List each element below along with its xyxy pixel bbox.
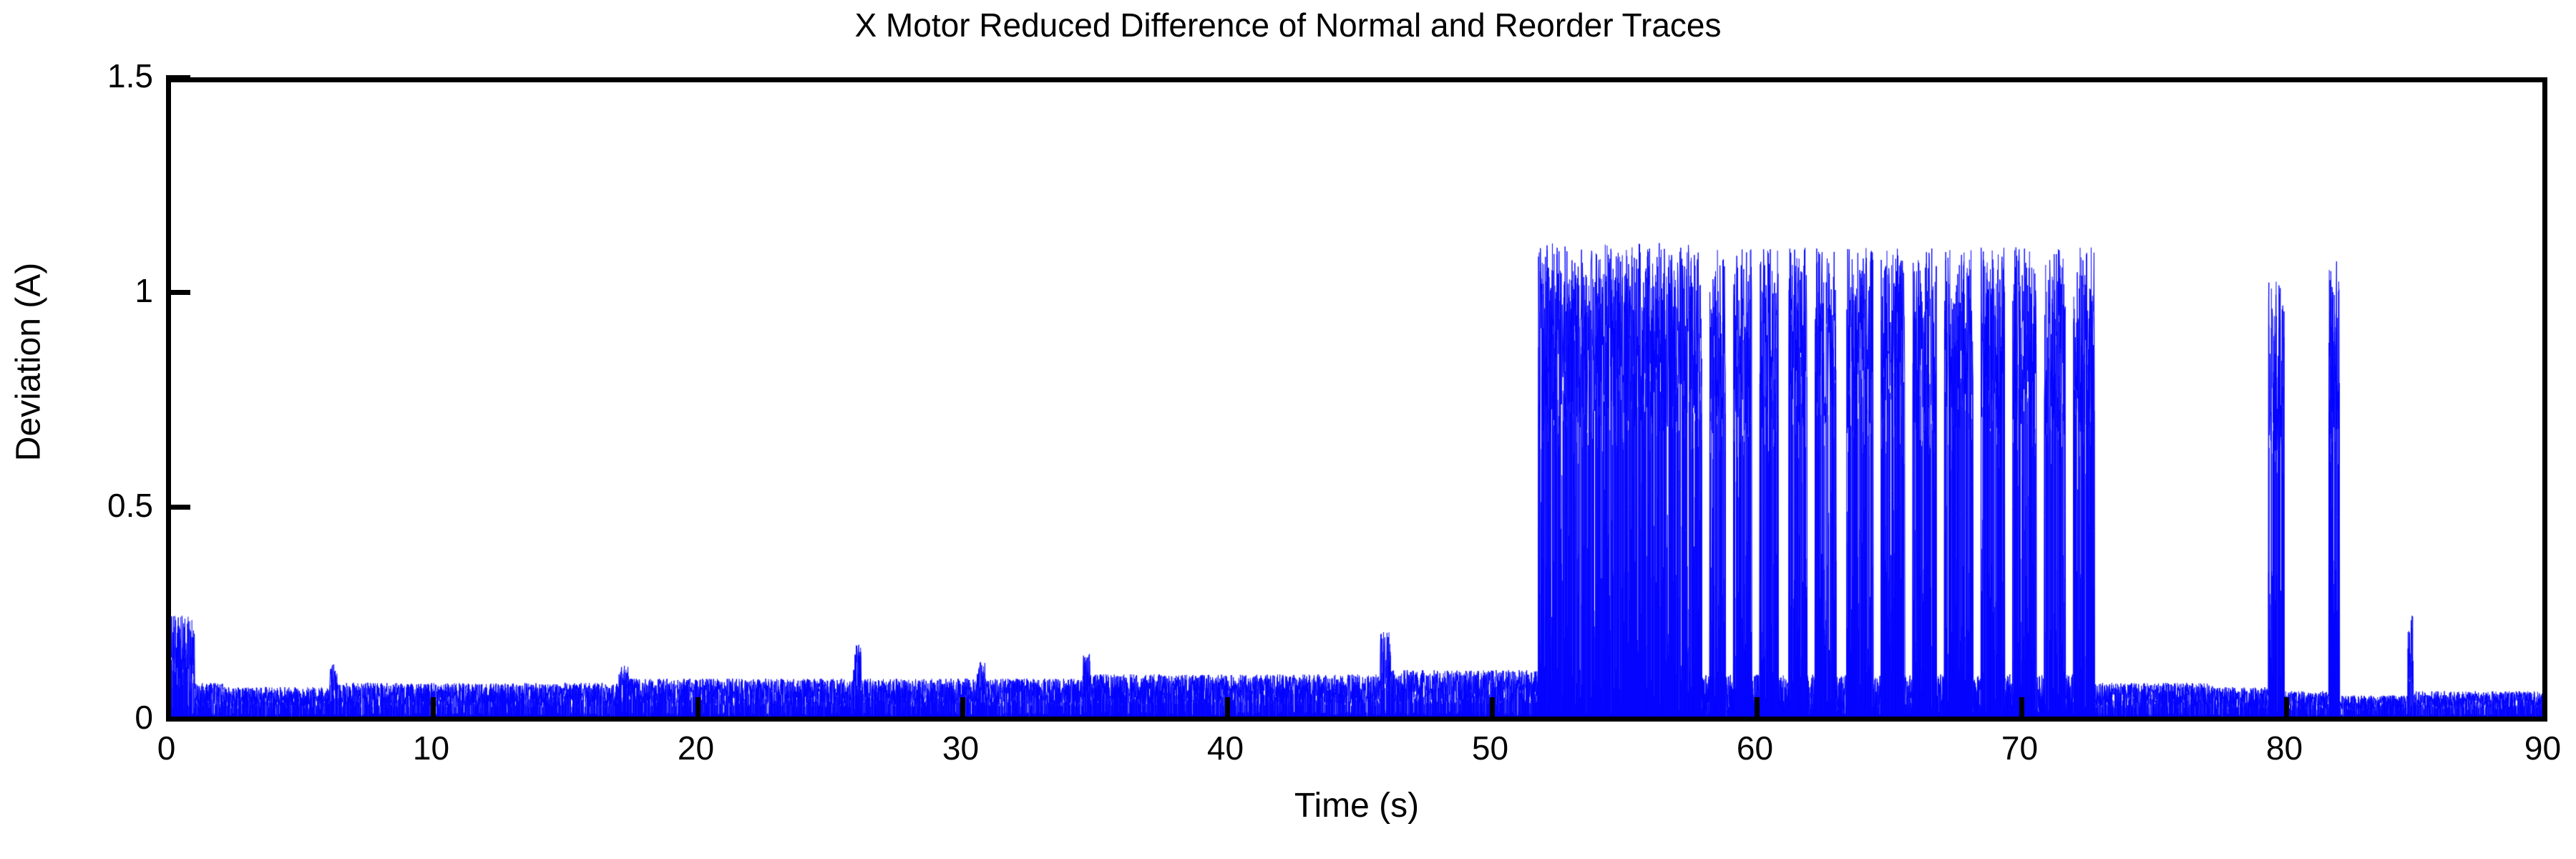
x-tick-label-50: 50 — [1455, 732, 1525, 765]
x-tick-label-70: 70 — [1985, 732, 2054, 765]
data-series-canvas — [171, 82, 2542, 717]
x-tick-label-30: 30 — [926, 732, 995, 765]
x-tick-mark-80 — [2284, 697, 2289, 722]
figure-container: X Motor Reduced Difference of Normal and… — [0, 0, 2576, 859]
x-tick-mark-70 — [2019, 697, 2024, 722]
x-tick-mark-60 — [1755, 697, 1760, 722]
x-tick-label-80: 80 — [2250, 732, 2319, 765]
x-axis-label: Time (s) — [166, 786, 2547, 825]
y-tick-mark-1 — [166, 290, 190, 295]
y-axis-label: Deviation (A) — [9, 212, 49, 513]
x-tick-mark-40 — [1225, 697, 1230, 722]
x-tick-mark-0 — [166, 697, 171, 722]
x-tick-label-90: 90 — [2508, 732, 2576, 765]
y-tick-label-1: 1 — [135, 274, 153, 307]
y-tick-label-1.5: 1.5 — [107, 59, 153, 92]
x-tick-label-40: 40 — [1191, 732, 1260, 765]
x-tick-label-0: 0 — [140, 732, 193, 765]
plot-area — [166, 77, 2547, 722]
y-tick-mark-1.5 — [166, 75, 190, 80]
x-tick-mark-10 — [431, 697, 436, 722]
x-tick-label-20: 20 — [661, 732, 731, 765]
y-tick-label-0.5: 0.5 — [107, 489, 153, 522]
x-tick-mark-50 — [1490, 697, 1495, 722]
x-tick-mark-20 — [696, 697, 701, 722]
x-tick-label-60: 60 — [1720, 732, 1790, 765]
chart-title: X Motor Reduced Difference of Normal and… — [0, 6, 2576, 44]
y-tick-mark-0.5 — [166, 505, 190, 510]
x-tick-mark-30 — [960, 697, 965, 722]
x-tick-label-10: 10 — [396, 732, 466, 765]
y-tick-label-0: 0 — [135, 701, 153, 734]
x-tick-mark-90 — [2542, 697, 2547, 722]
